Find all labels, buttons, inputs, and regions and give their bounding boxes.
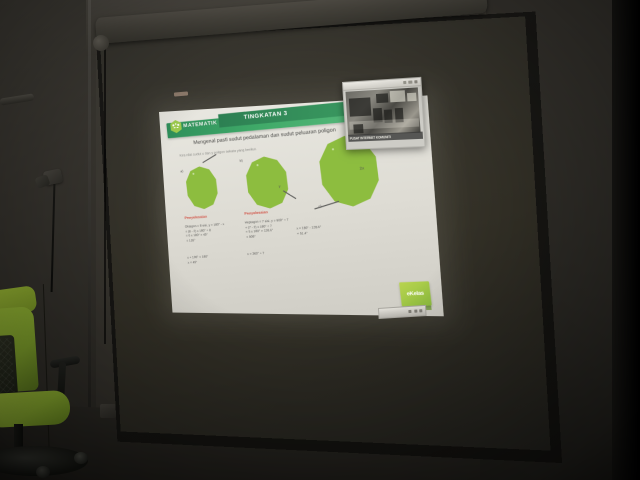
logo-dots-icon bbox=[172, 123, 180, 131]
figure-b-marker: b) bbox=[239, 158, 242, 162]
chair-seat bbox=[0, 390, 71, 428]
webcam-pip-window[interactable]: PUSAT INTERNET KOMUNITI bbox=[342, 77, 426, 150]
ekelas-logo: eKelas bbox=[399, 281, 432, 306]
prev-button[interactable] bbox=[408, 310, 411, 313]
figure-c-angle-label: 2x bbox=[359, 166, 364, 171]
polygon-b-highlight bbox=[256, 164, 258, 166]
figure-c-marker: c) bbox=[318, 204, 321, 208]
webcam-video-feed bbox=[345, 87, 420, 135]
screen-edge-strip bbox=[104, 44, 106, 344]
polygon-a-highlight bbox=[192, 173, 194, 175]
solution-body-a: Oktagon = 8 sisi, y = 180° - x = (8 - 2)… bbox=[185, 222, 226, 243]
polygon-figure-a bbox=[183, 165, 221, 210]
wall-plate bbox=[100, 404, 116, 418]
maximize-button[interactable] bbox=[408, 80, 412, 84]
chair-caster bbox=[74, 452, 88, 464]
solution-extra-b: x = 360° ÷ 7 bbox=[247, 251, 265, 257]
solution-body-b: Heptagon = 7 sisi, y = 900° ÷ 7 = (7 - 2… bbox=[244, 218, 290, 240]
slide-subtitle: Kira nilai sudut x dan y poligon sekata … bbox=[179, 147, 257, 158]
figure-a-marker: a) bbox=[180, 169, 183, 173]
close-button[interactable] bbox=[414, 80, 418, 84]
classroom-scene: MATEMATIK TINGKATAN 3 Mengenal pasti sud… bbox=[0, 0, 640, 480]
polygon-figure-b bbox=[242, 154, 292, 210]
ekelas-logo-text: eKelas bbox=[406, 290, 424, 297]
chair-caster bbox=[36, 466, 50, 478]
solution-heading-b: Penyelesaian bbox=[244, 210, 268, 216]
figure-b-angle-label: y bbox=[279, 184, 281, 188]
pip-caption-text: PUSAT INTERNET KOMUNITI bbox=[350, 135, 391, 141]
next-button[interactable] bbox=[419, 309, 422, 312]
solution-extra-a: x + 135° = 180° x = 45° bbox=[187, 254, 209, 264]
right-dark-edge bbox=[612, 0, 640, 480]
solution-right-column: x = 180° - 128.6° = 51.4° bbox=[296, 225, 322, 236]
minimize-button[interactable] bbox=[403, 80, 407, 84]
solution-heading-a: Penyelesaian bbox=[184, 215, 207, 221]
play-button[interactable] bbox=[414, 310, 417, 313]
